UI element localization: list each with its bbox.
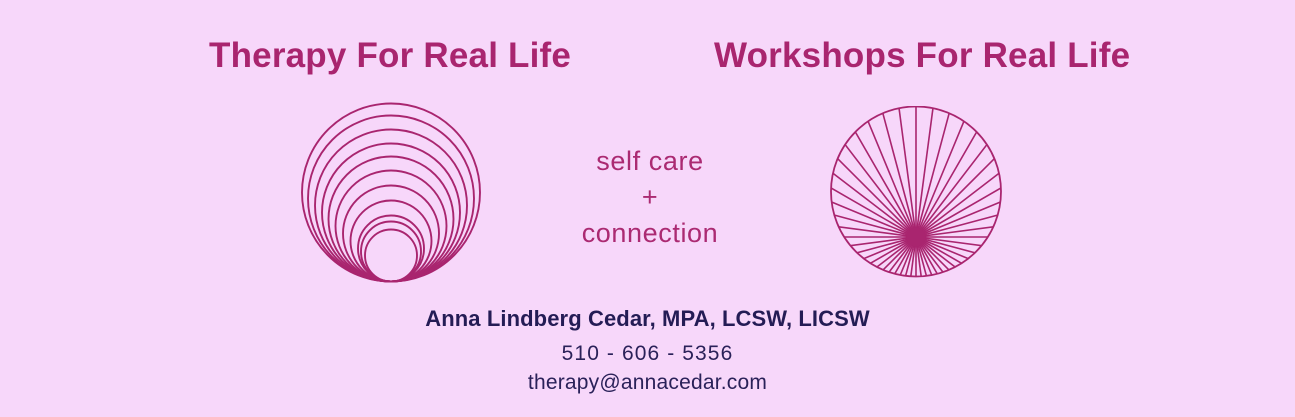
tagline-line-2: + <box>520 179 780 215</box>
tagline-line-1: self care <box>520 143 780 179</box>
sunburst-rays-icon <box>821 106 1011 282</box>
contact-block: Anna Lindberg Cedar, MPA, LCSW, LICSW 51… <box>0 306 1295 397</box>
tagline-line-3: connection <box>520 215 780 251</box>
practitioner-name: Anna Lindberg Cedar, MPA, LCSW, LICSW <box>0 306 1295 332</box>
heading-workshops-for-real-life: Workshops For Real Life <box>714 38 1130 73</box>
banner-root: Therapy For Real Life Workshops For Real… <box>0 0 1295 417</box>
tagline-block: self care + connection <box>520 143 780 251</box>
phone-number[interactable]: 510 - 606 - 5356 <box>0 339 1295 369</box>
nested-rings-svg <box>298 99 484 285</box>
sunburst-rays-svg <box>821 106 1011 282</box>
email-address[interactable]: therapy@annacedar.com <box>0 369 1295 397</box>
heading-therapy-for-real-life: Therapy For Real Life <box>209 38 571 73</box>
nested-rings-icon <box>298 99 484 285</box>
